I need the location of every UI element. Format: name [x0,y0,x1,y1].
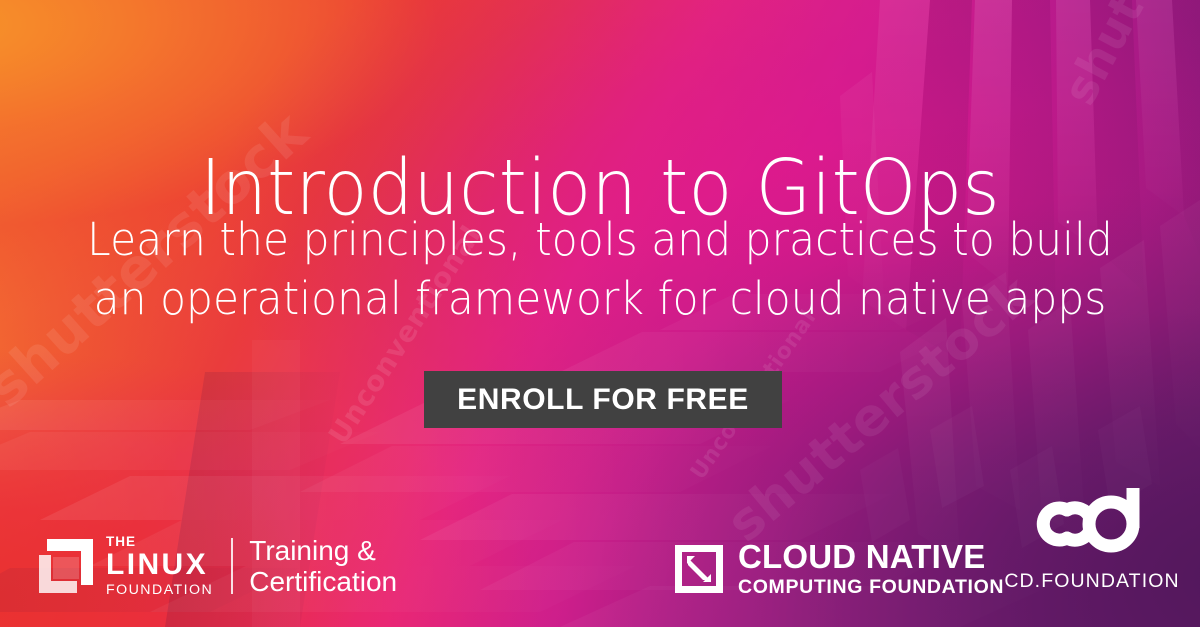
lf-foundation-label: FOUNDATION [106,583,213,597]
logo-divider [231,538,233,594]
cd-foundation-mark-icon [1023,488,1161,560]
linux-foundation-logo[interactable]: THE LINUX FOUNDATION Training & Certific… [35,533,397,599]
cncf-line-2: COMPUTING FOUNDATION [738,578,1004,598]
tagline-line-1: Training & [249,535,397,566]
banner-content: Introduction to GitOps Learn the princip… [0,0,1200,627]
linux-foundation-mark-icon [35,535,97,597]
lf-linux-label: LINUX [106,550,213,579]
cncf-logo[interactable]: CLOUD NATIVE COMPUTING FOUNDATION [673,540,1004,598]
enroll-button-label: ENROLL FOR FREE [457,385,749,415]
enroll-for-free-button[interactable]: ENROLL FOR FREE [424,371,782,428]
cncf-wordmark: CLOUD NATIVE COMPUTING FOUNDATION [738,540,1004,598]
cncf-line-1: CLOUD NATIVE [738,540,1004,573]
linux-foundation-wordmark: THE LINUX FOUNDATION [106,535,213,597]
subtitle-line-2: an operational framework for cloud nativ… [36,269,1164,328]
banner-subtitle: Learn the principles, tools and practice… [36,210,1164,329]
cd-foundation-logo[interactable]: CD.FOUNDATION [1004,488,1180,592]
gitops-course-banner: shutterstock Unconventional shutterstock… [0,0,1200,627]
training-certification-label: Training & Certification [249,535,397,598]
tagline-line-2: Certification [249,566,397,597]
cd-foundation-wordmark: CD.FOUNDATION [1004,572,1179,592]
subtitle-line-1: Learn the principles, tools and practice… [36,210,1164,269]
lf-the-label: THE [106,535,213,549]
cncf-mark-icon [673,543,725,595]
